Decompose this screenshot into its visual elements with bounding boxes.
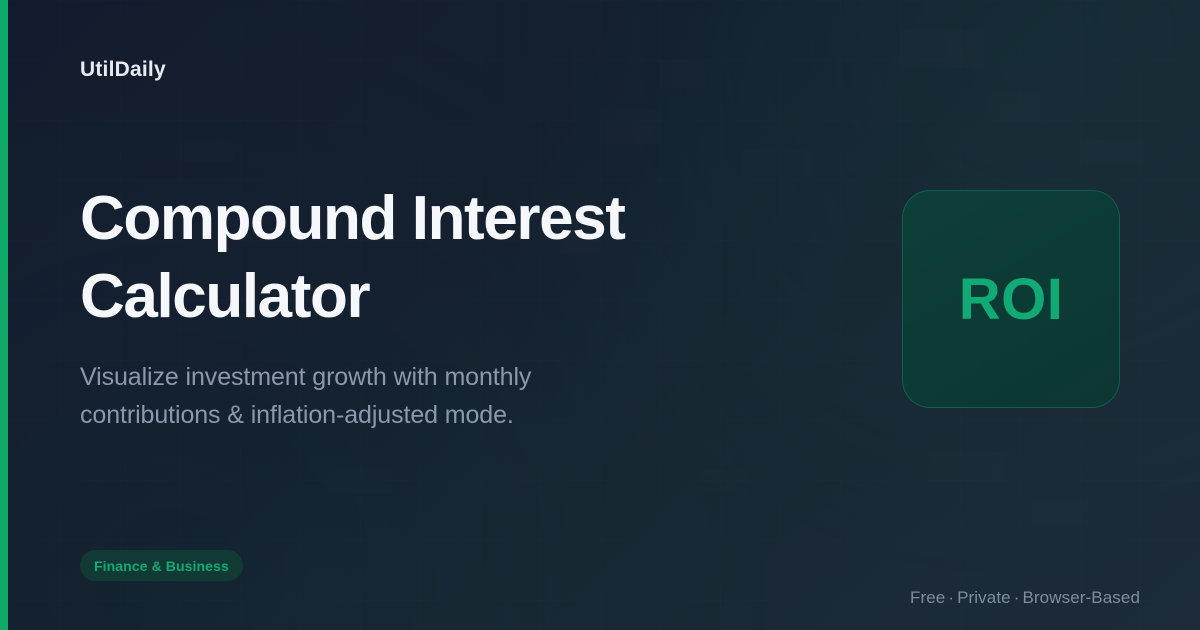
- roi-label: ROI: [959, 266, 1064, 333]
- footer-item-private: Private: [957, 588, 1011, 607]
- category-badge-label: Finance & Business: [94, 558, 229, 574]
- footer-item-free: Free: [910, 588, 945, 607]
- left-accent-bar: [0, 0, 8, 630]
- brand-name: UtilDaily: [80, 58, 166, 82]
- page-title-line-1: Compound Interest: [80, 180, 780, 258]
- page-title: Compound Interest Calculator: [80, 180, 780, 336]
- footer-separator-2: ·: [1011, 588, 1023, 607]
- category-badge: Finance & Business: [80, 550, 243, 581]
- page-subtitle: Visualize investment growth with monthly…: [80, 358, 640, 434]
- footer-item-browser-based: Browser-Based: [1022, 588, 1140, 607]
- footer-tagline: Free·Private·Browser-Based: [910, 588, 1140, 608]
- page-subtitle-line-2: contributions & inflation-adjusted mode.: [80, 396, 640, 434]
- page-title-line-2: Calculator: [80, 258, 780, 336]
- roi-badge-card: ROI: [902, 190, 1120, 408]
- footer-separator-1: ·: [945, 588, 957, 607]
- og-hero-card: UtilDaily Compound Interest Calculator V…: [0, 0, 1200, 630]
- page-subtitle-line-1: Visualize investment growth with monthly: [80, 358, 640, 396]
